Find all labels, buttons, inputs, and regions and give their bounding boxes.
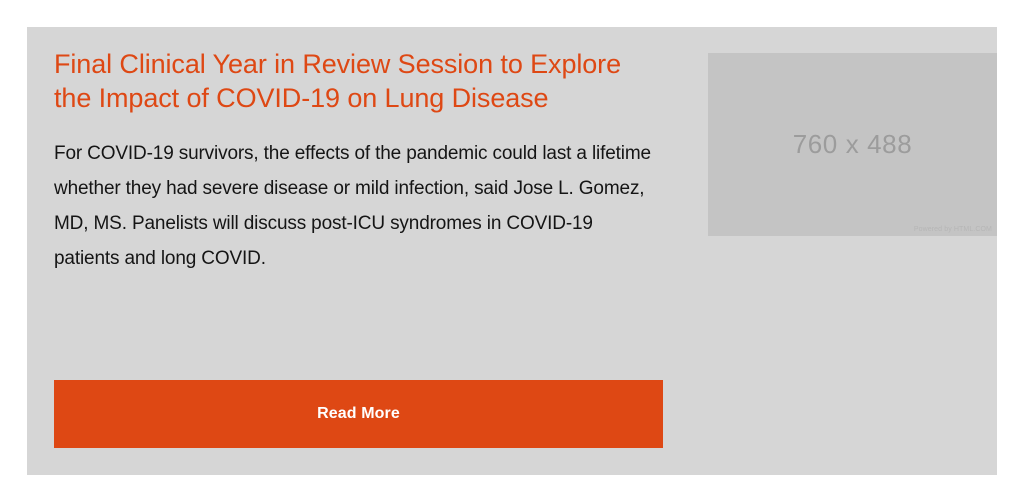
- read-more-button[interactable]: Read More: [54, 380, 663, 448]
- image-watermark-label: Powered by HTML.COM: [914, 226, 992, 233]
- promo-card: Final Clinical Year in Review Session to…: [27, 27, 997, 475]
- image-dimensions-label: 760 x 488: [708, 53, 997, 236]
- page-title: Final Clinical Year in Review Session to…: [54, 47, 634, 115]
- article-summary: For COVID-19 survivors, the effects of t…: [54, 136, 654, 276]
- article-image-placeholder: 760 x 488 Powered by HTML.COM: [708, 53, 997, 236]
- card-text-column: Final Clinical Year in Review Session to…: [54, 47, 663, 276]
